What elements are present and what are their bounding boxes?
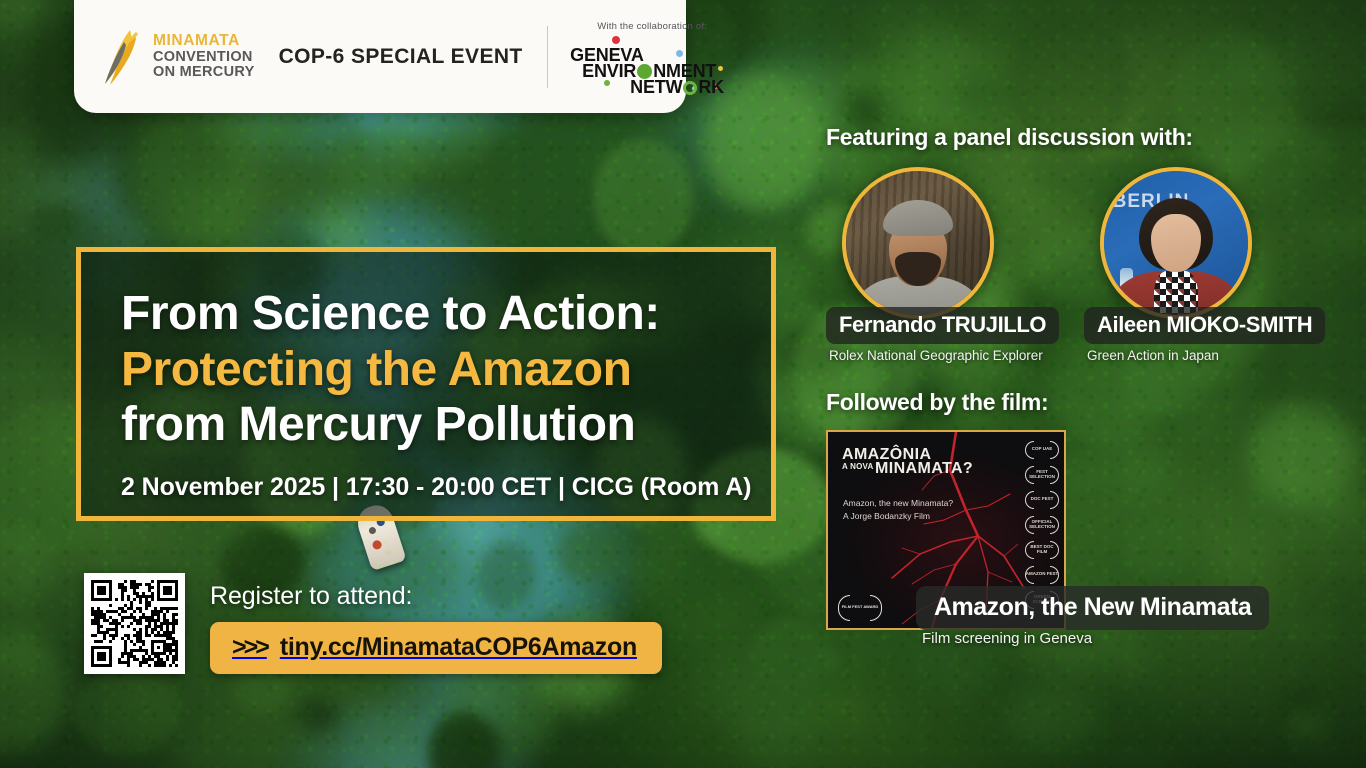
gen-ring-o-icon (683, 81, 697, 95)
qr-module (103, 658, 106, 661)
qr-module (151, 586, 154, 589)
qr-module (175, 664, 178, 667)
minamata-logo-text: MINAMATA CONVENTION ON MERCURY (153, 33, 255, 80)
qr-module (169, 664, 172, 667)
qr-module (157, 646, 160, 649)
panelist-photo-fernando (846, 171, 990, 315)
register-url-text: tiny.cc/MinamataCOP6Amazon (280, 633, 637, 662)
film-award-laurel-icon: FILM FEST AWARD (838, 594, 882, 620)
qr-module (139, 664, 142, 667)
qr-module (133, 610, 136, 613)
qr-module (142, 643, 145, 646)
qr-module (175, 607, 178, 610)
avatar: BERLIN (1100, 167, 1252, 319)
laurel-label: COP UAE (1032, 446, 1052, 451)
film-poster-title-prefix: A NOVA (842, 462, 873, 471)
qr-module (151, 580, 154, 583)
collaboration-label: With the collaboration of: (568, 21, 736, 32)
gen-dot-yellow (718, 66, 723, 71)
header-card: MINAMATA CONVENTION ON MERCURY COP-6 SPE… (74, 0, 686, 113)
qr-module (133, 643, 136, 646)
main-title-box: From Science to Action: Protecting the A… (76, 247, 776, 521)
header-divider (547, 26, 549, 88)
minamata-bird-icon (100, 28, 144, 86)
qr-module (109, 640, 112, 643)
qr-module (172, 631, 175, 634)
qr-module (145, 607, 148, 610)
panelist-affiliation: Green Action in Japan (1084, 348, 1304, 363)
gen-dot-red (612, 36, 620, 44)
event-label: COP-6 SPECIAL EVENT (279, 45, 523, 69)
qr-module (109, 598, 112, 601)
qr-module (163, 664, 166, 667)
qr-module (109, 604, 112, 607)
film-caption: Film screening in Geneva (922, 630, 1092, 647)
minamata-logo-line3: ON MERCURY (153, 65, 255, 80)
film-festival-laurel-icon: DOC FEST (1025, 490, 1059, 508)
film-poster-subtitle: Amazon, the new Minamata? (843, 498, 953, 508)
qr-module (115, 598, 118, 601)
panelist-photo-aileen: BERLIN (1104, 171, 1248, 315)
laurel-label: AMAZON FEST (1026, 571, 1059, 576)
avatar (842, 167, 994, 319)
panelist-affiliation: Rolex National Geographic Explorer (826, 348, 1046, 363)
qr-module (109, 664, 112, 667)
event-datetime-venue: 2 November 2025 | 17:30 - 20:00 CET | CI… (121, 473, 771, 502)
qr-module (175, 598, 178, 601)
minamata-logo-line1: MINAMATA (153, 33, 255, 49)
title-line-1: From Science to Action: (121, 286, 771, 342)
qr-code[interactable] (84, 573, 185, 674)
qr-module (127, 664, 130, 667)
film-name-badge: Amazon, the New Minamata (916, 586, 1269, 630)
qr-module (121, 625, 124, 628)
film-festival-laurels: COP UAEFEST SELECTIONDOC FESTOFFICIAL SE… (1025, 440, 1059, 608)
qr-module (139, 622, 142, 625)
gen-logo-line3-suffix: RK (698, 77, 724, 97)
qr-module (100, 640, 103, 643)
qr-module (133, 598, 136, 601)
qr-module (166, 610, 169, 613)
qr-module (121, 598, 124, 601)
qr-module (121, 655, 124, 658)
qr-module (124, 589, 127, 592)
film-festival-laurel-icon: COP UAE (1025, 440, 1059, 458)
panelist-aileen-mioko-smith: BERLIN Aileen MIOKO-SMITH Green Action i… (1084, 167, 1304, 363)
qr-module (127, 625, 130, 628)
qr-module (169, 592, 172, 595)
film-festival-laurel-icon: BEST DOC FILM (1025, 540, 1059, 558)
qr-module (130, 622, 133, 625)
qr-module (112, 637, 115, 640)
film-festival-laurel-icon: FEST SELECTION (1025, 465, 1059, 483)
laurel-label: DOC FEST (1031, 496, 1054, 501)
panelist-name: Fernando TRUJILLO (839, 312, 1046, 338)
film-block: AMAZÔNIA A NOVA MINAMATA? Amazon, the ne… (826, 430, 1342, 630)
film-poster-title-second: MINAMATA? (875, 460, 973, 478)
right-column: Featuring a panel discussion with: Ferna… (826, 124, 1342, 630)
qr-module (103, 637, 106, 640)
qr-module (148, 604, 151, 607)
qr-code-matrix (91, 580, 178, 667)
collaboration-block: With the collaboration of: GENEVA ENVIRN… (568, 21, 736, 92)
qr-module (166, 658, 169, 661)
qr-module (136, 586, 139, 589)
film-festival-laurel-icon: AMAZON FEST (1025, 565, 1059, 583)
qr-module (124, 580, 127, 583)
panel-heading: Featuring a panel discussion with: (826, 124, 1342, 151)
qr-module (148, 634, 151, 637)
geneva-environment-network-logo: GENEVA ENVIRNMENT NETWRK (568, 36, 736, 92)
panelist-name-badge: Aileen MIOKO-SMITH (1084, 307, 1325, 344)
qr-module (175, 658, 178, 661)
qr-module (175, 622, 178, 625)
qr-module (94, 634, 97, 637)
qr-module (100, 625, 103, 628)
laurel-label: BEST DOC FILM (1025, 544, 1059, 554)
qr-module (151, 598, 154, 601)
film-poster-credit: A Jorge Bodanzky Film (843, 511, 930, 521)
panelist-name: Aileen MIOKO-SMITH (1097, 312, 1312, 338)
qr-module (121, 619, 124, 622)
gen-logo-line2-prefix: ENVIR (582, 61, 636, 81)
qr-module (103, 592, 106, 595)
film-heading: Followed by the film: (826, 389, 1342, 416)
title-line-3: from Mercury Pollution (121, 397, 771, 453)
registration-block: Register to attend: >>> tiny.cc/Minamata… (84, 573, 662, 674)
minamata-convention-logo: MINAMATA CONVENTION ON MERCURY (100, 28, 255, 86)
laurel-label: FEST SELECTION (1025, 469, 1059, 479)
panelist-fernando-trujillo: Fernando TRUJILLO Rolex National Geograp… (826, 167, 1046, 363)
event-poster: MINAMATA CONVENTION ON MERCURY COP-6 SPE… (0, 0, 1366, 768)
panelist-name-badge: Fernando TRUJILLO (826, 307, 1059, 344)
film-name: Amazon, the New Minamata (934, 593, 1251, 622)
qr-module (139, 583, 142, 586)
qr-module (148, 664, 151, 667)
register-label: Register to attend: (210, 582, 662, 611)
chevrons-right-icon: >>> (232, 633, 267, 662)
registration-text-block: Register to attend: >>> tiny.cc/Minamata… (210, 573, 662, 674)
film-festival-laurel-icon: OFFICIAL SELECTION (1025, 515, 1059, 533)
film-award-text: FILM FEST AWARD (842, 605, 879, 610)
title-line-2: Protecting the Amazon (121, 342, 771, 398)
gen-logo-line3-prefix: NETW (630, 77, 682, 97)
panelist-list: Fernando TRUJILLO Rolex National Geograp… (826, 167, 1342, 363)
register-link-button[interactable]: >>> tiny.cc/MinamataCOP6Amazon (210, 622, 662, 674)
gen-logo-line3: NETWRK (630, 77, 724, 98)
gen-dot-blue (676, 50, 683, 57)
qr-module (115, 634, 118, 637)
qr-module (124, 610, 127, 613)
qr-module (175, 613, 178, 616)
qr-module (139, 601, 142, 604)
laurel-label: OFFICIAL SELECTION (1025, 519, 1059, 529)
minamata-logo-line2: CONVENTION (153, 50, 255, 65)
